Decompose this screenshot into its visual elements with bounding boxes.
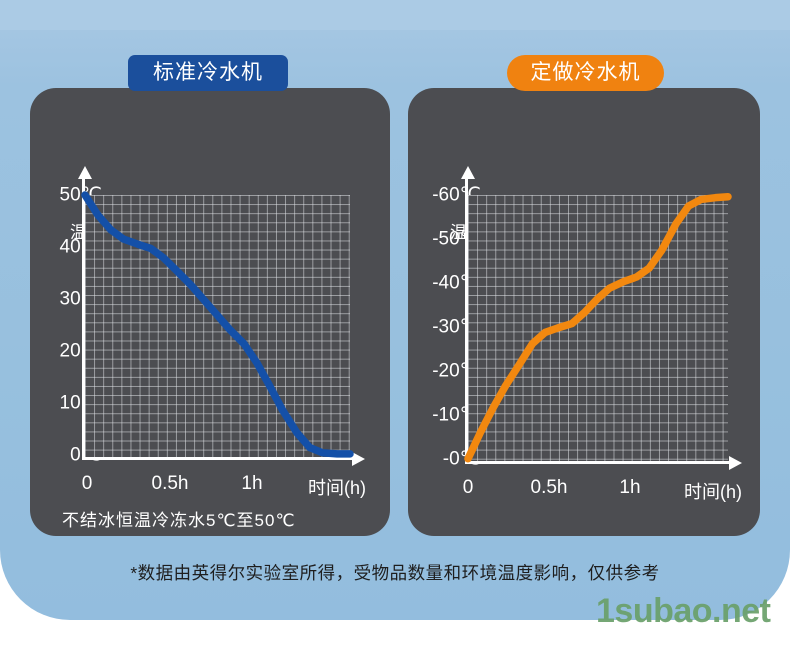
right-x-axis	[465, 461, 731, 464]
badge-standard-chiller: 标准冷水机	[128, 55, 288, 91]
right-xtick-1: 0.5h	[531, 477, 568, 499]
left-xtick-2: 1h	[241, 473, 262, 495]
watermark: 1subao.net	[596, 592, 770, 631]
left-xtick-0: 0	[82, 473, 93, 495]
right-curve-custom	[468, 195, 728, 461]
right-xtick-2: 1h	[619, 477, 640, 499]
left-curve-standard	[85, 195, 350, 457]
badge-custom-chiller: 定做冷水机	[507, 55, 664, 91]
footnote-text: *数据由英得尔实验室所得，受物品数量和环境温度影响，仅供参考	[0, 560, 790, 585]
right-x-axis-label: 时间(h)	[684, 478, 742, 504]
promo-infographic: 标准冷水机 温度（℃） 50℃ 40℃ 30℃ 20℃ 10℃ 0℃ 0 0.5…	[0, 0, 790, 649]
left-xtick-1: 0.5h	[152, 473, 189, 495]
right-plot-area	[468, 195, 728, 461]
right-xtick-0: 0	[463, 477, 474, 499]
left-x-axis-label: 时间(h)	[308, 474, 366, 500]
left-caption: 不结冰恒温冷冻水5℃至50℃	[62, 506, 296, 531]
left-y-axis-arrow-icon	[78, 166, 92, 179]
left-x-axis	[82, 457, 354, 460]
left-x-axis-arrow-icon	[352, 452, 365, 466]
background-top-strip	[0, 0, 790, 30]
right-x-axis-arrow-icon	[729, 456, 742, 470]
panel-standard-chiller: 温度（℃） 50℃ 40℃ 30℃ 20℃ 10℃ 0℃ 0 0.5h 1h 时…	[30, 88, 390, 536]
right-y-axis-arrow-icon	[461, 166, 475, 179]
panel-custom-chiller: 温度（℃） -60℃ -50℃ -40℃ -30℃ -20℃ -10℃ -0℃ …	[408, 88, 760, 536]
left-plot-area	[85, 195, 350, 457]
